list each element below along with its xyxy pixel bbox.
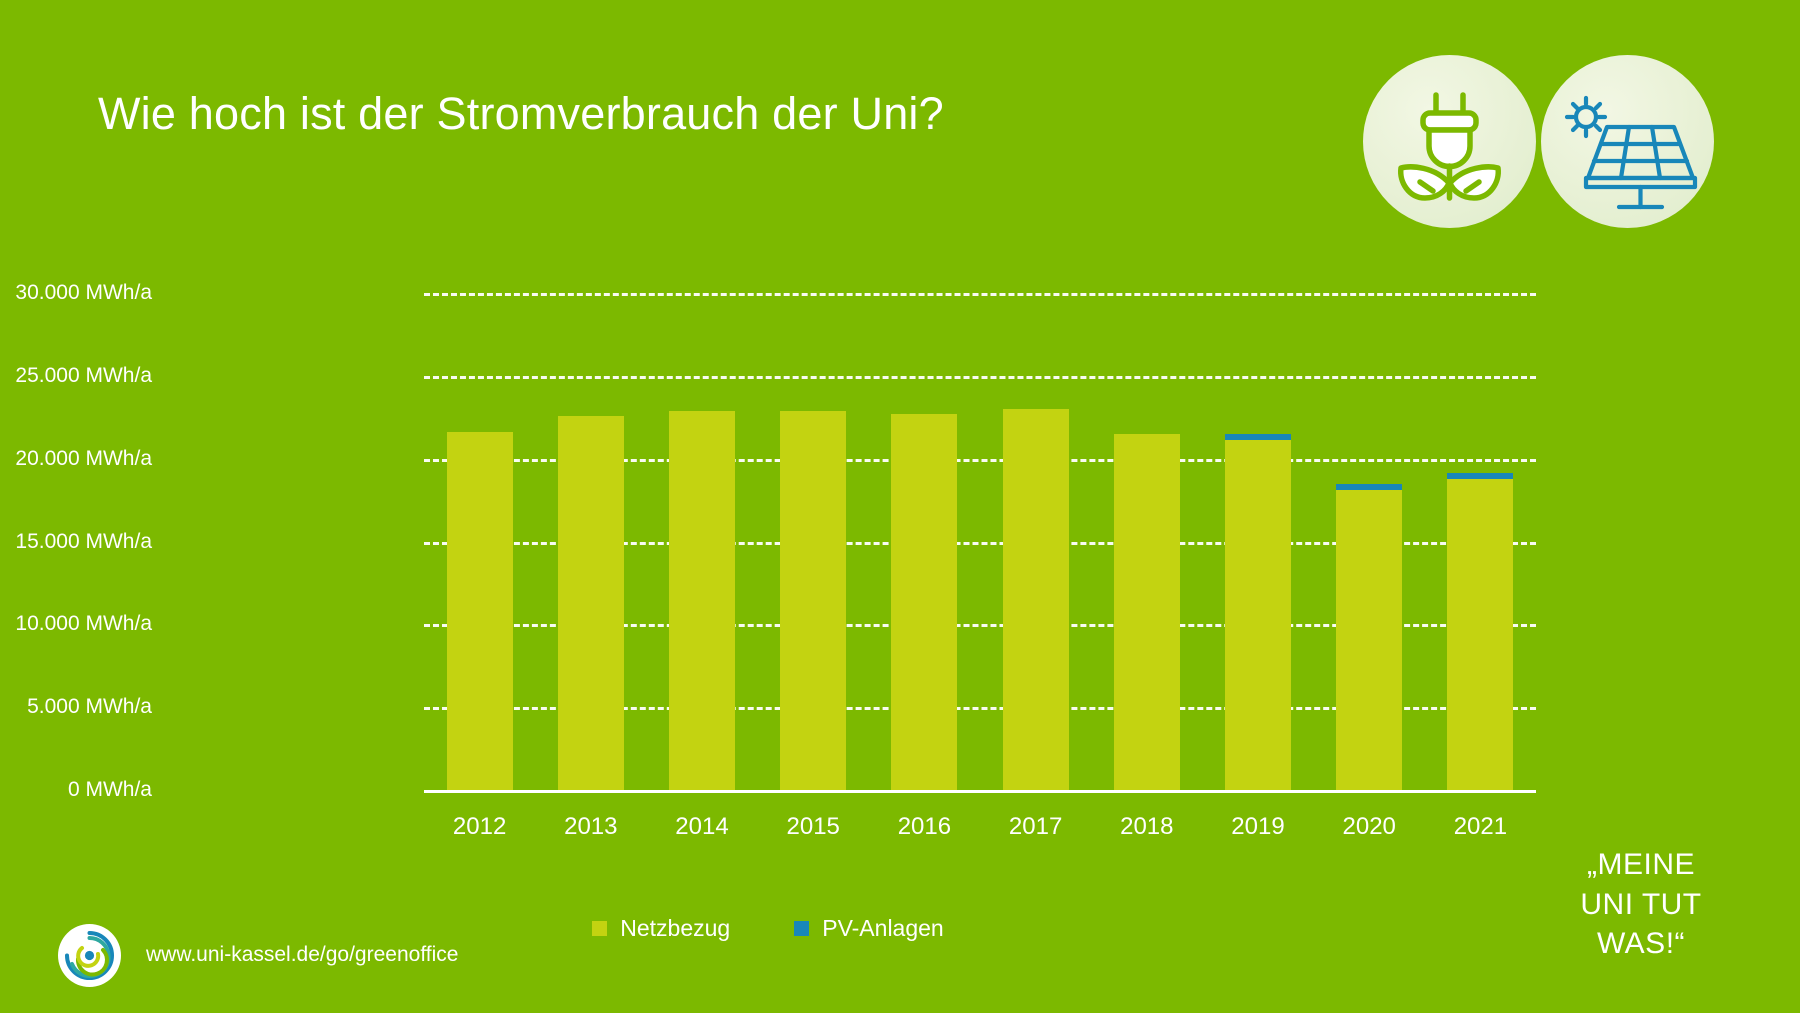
bar-segment-netzbezug	[1114, 434, 1180, 790]
bar-group[interactable]	[1336, 484, 1402, 790]
bar-segment-pv-anlagen	[1336, 484, 1402, 490]
slogan-line-1: „MEINE	[1526, 845, 1756, 885]
plot-area: 0 MWh/a5.000 MWh/a10.000 MWh/a15.000 MWh…	[424, 293, 1536, 790]
bar-segment-netzbezug	[780, 411, 846, 790]
greenoffice-spiral-logo	[58, 924, 121, 987]
gridline	[424, 459, 1536, 462]
bar-segment-netzbezug	[669, 411, 735, 790]
x-axis-tick-label: 2013	[564, 813, 617, 841]
gridline	[424, 624, 1536, 627]
legend-swatch-pv-anlagen	[794, 921, 809, 936]
y-axis-tick-label: 25.000 MWh/a	[15, 364, 152, 388]
y-axis-tick-label: 0 MWh/a	[68, 778, 152, 802]
bar-group[interactable]	[1447, 473, 1513, 790]
x-axis-tick-label: 2020	[1342, 813, 1395, 841]
bar-segment-netzbezug	[558, 416, 624, 790]
bar-segment-netzbezug	[447, 432, 513, 790]
y-axis-tick-label: 20.000 MWh/a	[15, 447, 152, 471]
bar-segment-netzbezug	[1447, 479, 1513, 790]
x-axis-tick-label: 2017	[1009, 813, 1062, 841]
bar-group[interactable]	[1225, 434, 1291, 790]
slogan-line-3: WAS!“	[1526, 924, 1756, 964]
footer-url[interactable]: www.uni-kassel.de/go/greenoffice	[146, 943, 458, 967]
chart-legend: NetzbezugPV-Anlagen	[0, 915, 1536, 942]
bar-group[interactable]	[780, 411, 846, 790]
slogan: „MEINE UNI TUT WAS!“	[1526, 845, 1756, 964]
bar-group[interactable]	[1114, 434, 1180, 790]
bar-group[interactable]	[891, 414, 957, 790]
bar-segment-netzbezug	[891, 414, 957, 790]
solar-panel-icon	[1541, 55, 1714, 228]
bar-group[interactable]	[558, 416, 624, 790]
x-axis-line	[424, 790, 1536, 793]
slogan-line-2: UNI TUT	[1526, 885, 1756, 925]
bar-segment-pv-anlagen	[1447, 473, 1513, 479]
legend-label: PV-Anlagen	[822, 915, 943, 942]
x-axis-tick-label: 2014	[675, 813, 728, 841]
bar-group[interactable]	[669, 411, 735, 790]
bar-segment-netzbezug	[1225, 440, 1291, 790]
gridline	[424, 542, 1536, 545]
legend-label: Netzbezug	[620, 915, 730, 942]
bar-group[interactable]	[1003, 409, 1069, 790]
gridline	[424, 376, 1536, 379]
x-axis-tick-label: 2015	[786, 813, 839, 841]
y-axis-tick-label: 15.000 MWh/a	[15, 530, 152, 554]
bar-segment-pv-anlagen	[1225, 434, 1291, 440]
y-axis-tick-label: 30.000 MWh/a	[15, 281, 152, 305]
bar-segment-netzbezug	[1003, 409, 1069, 790]
x-axis-tick-label: 2016	[898, 813, 951, 841]
eco-plug-icon	[1363, 55, 1536, 228]
x-axis-tick-label: 2018	[1120, 813, 1173, 841]
spiral-icon	[58, 924, 121, 987]
page-title: Wie hoch ist der Stromverbrauch der Uni?	[98, 88, 944, 140]
gridline	[424, 707, 1536, 710]
bar-group[interactable]	[447, 432, 513, 790]
x-axis-tick-label: 2019	[1231, 813, 1284, 841]
y-axis-tick-label: 5.000 MWh/a	[27, 695, 152, 719]
y-axis-tick-label: 10.000 MWh/a	[15, 612, 152, 636]
solar-panel-badge	[1541, 55, 1714, 228]
legend-item[interactable]: Netzbezug	[592, 915, 730, 942]
x-axis-tick-label: 2021	[1454, 813, 1507, 841]
eco-plug-badge	[1363, 55, 1536, 228]
legend-swatch-netzbezug	[592, 921, 607, 936]
gridline	[424, 293, 1536, 296]
bar-segment-netzbezug	[1336, 490, 1402, 790]
legend-item[interactable]: PV-Anlagen	[794, 915, 943, 942]
x-axis-tick-label: 2012	[453, 813, 506, 841]
